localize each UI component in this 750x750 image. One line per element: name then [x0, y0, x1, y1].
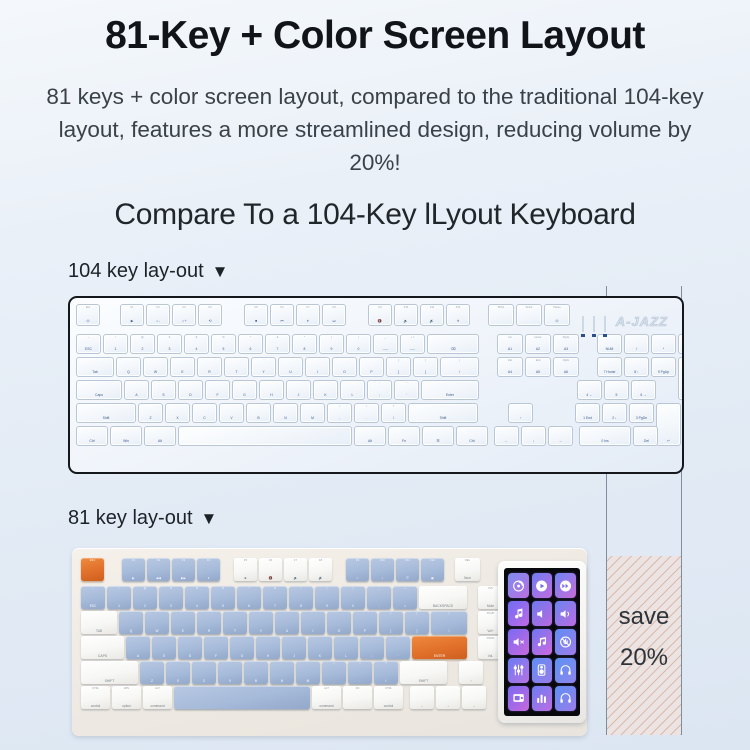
- key-legend-main: 🔉: [397, 319, 415, 324]
- key-104-bottom-row-12[interactable]: . Del: [633, 426, 658, 446]
- key-legend-main: J: [289, 393, 308, 398]
- key-81-bottom-row-4[interactable]: ALTcommand: [312, 686, 341, 709]
- key-legend-main: ↵: [659, 439, 678, 444]
- key-legend-main: ;: [362, 654, 383, 658]
- key-104-home-row-10[interactable]: :;: [367, 380, 392, 400]
- key-104-function-row-9[interactable]: F9🔇: [368, 304, 392, 326]
- key-104-qwerty-row-10[interactable]: P: [359, 357, 384, 377]
- key-81-number-row-11[interactable]: _-: [367, 586, 391, 609]
- key-104-shift-row-13[interactable]: 1 End: [575, 403, 600, 423]
- key-legend-top: Home: [528, 336, 548, 340]
- key-81-function-row-9[interactable]: F9⌂: [346, 558, 369, 581]
- key-legend-top: :: [370, 382, 389, 386]
- key-104-qwerty-row-7[interactable]: U: [278, 357, 303, 377]
- key-legend-top: ): [349, 336, 368, 340]
- key-81-number-row-5[interactable]: %5: [211, 586, 235, 609]
- key-104-function-row-13[interactable]: PrtSc: [488, 304, 514, 326]
- key-104-number-row-1[interactable]: !1: [103, 334, 128, 354]
- key-legend-main: ': [397, 393, 416, 398]
- key-104-number-row-5[interactable]: %5: [211, 334, 236, 354]
- key-legend-main: /: [627, 347, 646, 352]
- key-104-number-row-9[interactable]: (9: [319, 334, 344, 354]
- key-104-function-row-1[interactable]: F1▶: [120, 304, 144, 326]
- key-legend-top: ^: [241, 336, 260, 340]
- key-legend-main: 2: [133, 347, 152, 352]
- key-81-shift-row-2[interactable]: X: [166, 661, 190, 684]
- key-104-number-row-7[interactable]: &7: [265, 334, 290, 354]
- key-legend-main: 6: [239, 604, 260, 608]
- key-104-shift-row-15[interactable]: 3 PgDn: [629, 403, 654, 423]
- key-104-qwerty-row-16[interactable]: PgDnA6: [553, 357, 579, 377]
- key-legend-top: F3: [174, 559, 194, 563]
- key-104-number-row-11[interactable]: _ -⸺: [373, 334, 398, 354]
- screen-app-volume-down-icon[interactable]: [532, 601, 553, 626]
- key-81-bottom-row-7[interactable]: ←: [410, 686, 434, 709]
- key-legend-top: F1: [123, 306, 141, 310]
- key-104-qwerty-row-19[interactable]: 9 PgUp: [651, 357, 676, 377]
- key-legend-top: DEL: [457, 559, 479, 563]
- key-legend-main: Y: [254, 370, 273, 375]
- key-81-home-row-3[interactable]: D: [178, 636, 202, 659]
- key-81-home-row-0[interactable]: CAPS: [81, 636, 124, 659]
- key-104-shift-row-5[interactable]: B: [246, 403, 271, 423]
- key-81-home-row-9[interactable]: L: [334, 636, 358, 659]
- key-legend-top: :: [362, 637, 383, 641]
- key-104-number-row-6[interactable]: ^6: [238, 334, 263, 354]
- key-81-bottom-row-6[interactable]: CTRLcontrol: [374, 686, 403, 709]
- key-104-shift-row-9[interactable]: >.: [354, 403, 379, 423]
- key-104-qwerty-row-17[interactable]: 7 Home: [597, 357, 622, 377]
- key-legend-top: !: [109, 587, 130, 591]
- key-81-shift-row-9[interactable]: >.: [348, 661, 372, 684]
- key-104-qwerty-row-0[interactable]: Tab: [76, 357, 114, 377]
- key-81-number-row-13[interactable]: BACKSPACE: [419, 586, 467, 609]
- key-104-qwerty-row-18[interactable]: 8 ↑: [624, 357, 649, 377]
- key-81-bottom-row-3[interactable]: [174, 686, 310, 709]
- key-81-function-row-7[interactable]: F7🔉: [284, 558, 307, 581]
- key-legend-top: CTRL: [376, 687, 402, 691]
- key-81-qwerty-row-12[interactable]: }]: [405, 611, 429, 634]
- key-legend-main: Fn: [391, 439, 417, 444]
- key-81-number-row-6[interactable]: ^6: [237, 586, 261, 609]
- key-104-function-row-4[interactable]: F4⟲: [198, 304, 222, 326]
- key-81-qwerty-row-4[interactable]: R: [197, 611, 221, 634]
- key-104-qwerty-row-13[interactable]: |\: [440, 357, 479, 377]
- key-104-function-row-2[interactable]: F2☼-: [146, 304, 170, 326]
- key-legend-top: _: [369, 587, 390, 591]
- key-81-function-row-0[interactable]: ESC: [81, 558, 104, 581]
- key-81-shift-row-10[interactable]: ?/: [374, 661, 398, 684]
- key-104-home-row-5[interactable]: G: [232, 380, 257, 400]
- key-legend-main: SHIFT: [402, 679, 446, 683]
- key-legend-main: C: [195, 416, 214, 421]
- key-81-qwerty-row-2[interactable]: W: [145, 611, 169, 634]
- key-104-function-row-8[interactable]: F8⏭: [322, 304, 346, 326]
- key-legend-main: ↑: [511, 416, 530, 421]
- key-legend-main: F: [208, 393, 227, 398]
- key-81-shift-row-0[interactable]: SHIFT: [81, 661, 138, 684]
- compare-heading: Compare To a 104-Key lLyout Keyboard: [0, 198, 750, 232]
- key-104-number-row-10[interactable]: )0: [346, 334, 371, 354]
- key-81-qwerty-row-6[interactable]: Y: [249, 611, 273, 634]
- key-104-home-row-7[interactable]: J: [286, 380, 311, 400]
- key-81-number-row-3[interactable]: #3: [159, 586, 183, 609]
- key-81-home-row-11[interactable]: "': [386, 636, 410, 659]
- key-81-home-row-12[interactable]: ENTER: [412, 636, 467, 659]
- key-81-home-row-1[interactable]: A: [126, 636, 150, 659]
- key-104-shift-row-0[interactable]: Shift: [76, 403, 136, 423]
- key-legend-main: W: [147, 629, 168, 633]
- key-81-qwerty-row-11[interactable]: {[: [379, 611, 403, 634]
- key-legend-main: 0: [343, 604, 364, 608]
- key-legend-top: F5: [236, 559, 256, 563]
- key-104-shift-row-1[interactable]: Z: [138, 403, 163, 423]
- key-legend-main: W: [146, 370, 165, 375]
- key-legend-main: 3: [161, 604, 182, 608]
- key-104-home-row-13[interactable]: 4 ←: [577, 380, 602, 400]
- key-104-bottom-row-4[interactable]: Alt: [354, 426, 386, 446]
- key-104-home-row-1[interactable]: A: [124, 380, 149, 400]
- key-legend-top: WIN: [114, 687, 140, 691]
- key-81-bottom-row-2[interactable]: ALTcommand: [143, 686, 172, 709]
- screen-app-music-notes-icon[interactable]: [532, 629, 553, 654]
- key-81-number-row-12[interactable]: +=: [393, 586, 417, 609]
- key-81-bottom-row-8[interactable]: ↓: [436, 686, 460, 709]
- screen-app-headset-icon[interactable]: [555, 686, 576, 711]
- key-legend-main: 9: [317, 604, 338, 608]
- key-legend-main: 7 Home: [600, 370, 619, 375]
- key-104-qwerty-row-4[interactable]: R: [197, 357, 222, 377]
- key-104-number-row-0[interactable]: ~ESC: [76, 334, 101, 354]
- key-legend-main: 5: [607, 393, 626, 398]
- key-legend-main: ⏻: [547, 319, 567, 324]
- key-104-shift-row-10[interactable]: ?/: [381, 403, 406, 423]
- key-104-bottom-row-0[interactable]: Ctrl: [76, 426, 108, 446]
- key-104-shift-row-6[interactable]: N: [273, 403, 298, 423]
- key-104-qwerty-row-9[interactable]: O: [332, 357, 357, 377]
- key-legend-top: $: [187, 587, 208, 591]
- key-legend-main: Z: [142, 679, 163, 683]
- key-81-number-row-10[interactable]: )0: [341, 586, 365, 609]
- key-81-qwerty-row-13[interactable]: |\: [431, 611, 467, 634]
- key-104-number-row-8[interactable]: *8: [292, 334, 317, 354]
- key-81-function-row-5[interactable]: F5■: [234, 558, 257, 581]
- key-legend-main: 🔇: [371, 319, 389, 324]
- key-legend-main: A: [128, 654, 149, 658]
- key-104-function-row-12[interactable]: F12☀: [446, 304, 470, 326]
- key-104-qwerty-row-20[interactable]: +: [678, 357, 684, 400]
- key-legend-top: F2: [149, 559, 169, 563]
- key-81-shift-row-3[interactable]: C: [192, 661, 216, 684]
- key-104-bottom-row-10[interactable]: →: [548, 426, 573, 446]
- screen-app-headphones-icon[interactable]: [555, 658, 576, 683]
- key-legend-main: .: [357, 416, 376, 421]
- key-81-number-row-4[interactable]: $4: [185, 586, 209, 609]
- key-legend-top: Pause: [547, 306, 567, 310]
- key-104-qwerty-row-3[interactable]: E: [170, 357, 195, 377]
- key-legend-main: K: [316, 393, 335, 398]
- key-104-shift-row-2[interactable]: X: [165, 403, 190, 423]
- key-81-home-row-2[interactable]: S: [152, 636, 176, 659]
- key-81-qwerty-row-10[interactable]: P: [353, 611, 377, 634]
- key-104-function-row-15[interactable]: Pause⏻: [544, 304, 570, 326]
- key-104-bottom-row-9[interactable]: ↓: [521, 426, 546, 446]
- key-legend-top: *: [291, 587, 312, 591]
- key-legend-main: 4 ←: [580, 393, 599, 398]
- screen-app-play-icon[interactable]: [532, 573, 553, 598]
- key-81-shift-row-12[interactable]: ↑: [459, 661, 483, 684]
- key-104-function-row-10[interactable]: F10🔉: [394, 304, 418, 326]
- key-legend-main: Shift: [411, 416, 475, 421]
- key-legend-main: I: [308, 370, 327, 375]
- key-104-qwerty-row-15[interactable]: EndA5: [525, 357, 551, 377]
- key-104-bottom-row-2[interactable]: Alt: [144, 426, 176, 446]
- key-81-shift-row-1[interactable]: Z: [140, 661, 164, 684]
- key-104-home-row-11[interactable]: "': [394, 380, 419, 400]
- key-104-shift-row-4[interactable]: V: [219, 403, 244, 423]
- key-104-number-row-12[interactable]: + =⸺: [400, 334, 425, 354]
- key-104-home-row-0[interactable]: Caps: [76, 380, 122, 400]
- key-legend-main: Z: [141, 416, 160, 421]
- key-81-number-row-2[interactable]: @2: [133, 586, 157, 609]
- key-legend-main: ]: [416, 370, 435, 375]
- screen-app-music-note-icon[interactable]: [508, 601, 529, 626]
- key-legend-main: Y: [251, 629, 272, 633]
- key-104-function-row-14[interactable]: ScrLk: [516, 304, 542, 326]
- key-legend-main: Num: [457, 576, 479, 580]
- key-104-qwerty-row-1[interactable]: Q: [116, 357, 141, 377]
- key-104-number-row-15[interactable]: HomeA2: [525, 334, 551, 354]
- key-81-qwerty-row-9[interactable]: O: [327, 611, 351, 634]
- key-81-function-row-2[interactable]: F2◀◀: [147, 558, 170, 581]
- indicator-led-scrolllock: [604, 316, 606, 332]
- key-104-shift-row-16[interactable]: ↵: [656, 403, 681, 446]
- screen-app-mic-off-icon[interactable]: [555, 629, 576, 654]
- key-legend-main: \: [443, 370, 476, 375]
- key-81-shift-row-6[interactable]: N: [270, 661, 294, 684]
- key-81-number-row-7[interactable]: &7: [263, 586, 287, 609]
- key-81-qwerty-row-5[interactable]: T: [223, 611, 247, 634]
- key-legend-main: 2: [135, 604, 156, 608]
- key-81-home-row-7[interactable]: J: [282, 636, 306, 659]
- key-104-bottom-row-7[interactable]: Ctrl: [456, 426, 488, 446]
- key-legend-top: ^: [239, 587, 260, 591]
- key-legend-top: $: [187, 336, 206, 340]
- key-104-bottom-row-1[interactable]: Win: [110, 426, 142, 446]
- key-legend-main: 1: [106, 347, 125, 352]
- key-81-qwerty-row-7[interactable]: U: [275, 611, 299, 634]
- key-81-qwerty-row-0[interactable]: TAB: [81, 611, 117, 634]
- screen-app-fast-forward-icon[interactable]: [555, 573, 576, 598]
- key-legend-top: Ins: [500, 336, 520, 340]
- key-legend-main: ⏻: [79, 319, 97, 324]
- key-104-number-row-17[interactable]: NUM: [597, 334, 622, 354]
- key-104-number-row-2[interactable]: @2: [130, 334, 155, 354]
- screen-app-volume-mute-icon[interactable]: [508, 629, 529, 654]
- key-legend-main: 🔇: [261, 576, 281, 580]
- key-legend-main: ⏮: [273, 319, 291, 324]
- key-81-function-row-12[interactable]: F12▣: [421, 558, 444, 581]
- key-104-shift-row-11[interactable]: Shift: [408, 403, 478, 423]
- key-legend-top: ~: [79, 336, 98, 340]
- volume-mute-icon: [508, 629, 529, 654]
- key-104-function-row-0[interactable]: Esc⏻: [76, 304, 100, 326]
- key-81-home-row-5[interactable]: G: [230, 636, 254, 659]
- key-81-shift-row-11[interactable]: SHIFT: [400, 661, 447, 684]
- key-81-function-row-6[interactable]: F6🔇: [259, 558, 282, 581]
- key-81-function-row-10[interactable]: F10⌕: [371, 558, 394, 581]
- key-legend-main: ■: [247, 319, 265, 324]
- key-legend-main: H: [258, 654, 279, 658]
- key-104-qwerty-row-11[interactable]: {[: [386, 357, 411, 377]
- key-104-home-row-3[interactable]: D: [178, 380, 203, 400]
- key-104-bottom-row-6[interactable]: ☰: [422, 426, 454, 446]
- key-104-function-row-6[interactable]: F6⏮: [270, 304, 294, 326]
- key-81-home-row-8[interactable]: K: [308, 636, 332, 659]
- key-legend-main: R: [200, 370, 219, 375]
- key-81-number-row-1[interactable]: !1: [107, 586, 131, 609]
- key-104-bottom-row-11[interactable]: 0 Ins: [579, 426, 631, 446]
- key-81-shift-row-8[interactable]: <,: [322, 661, 346, 684]
- key-legend-main: Ctrl: [79, 439, 105, 444]
- key-legend-main: ☼+: [175, 319, 193, 324]
- key-104-number-row-14[interactable]: InsA1: [497, 334, 523, 354]
- key-104-function-row-3[interactable]: F3☼+: [172, 304, 196, 326]
- key-81-shift-row-7[interactable]: M: [296, 661, 320, 684]
- key-104-qwerty-row-2[interactable]: W: [143, 357, 168, 377]
- screen-app-disc-icon[interactable]: [508, 573, 529, 598]
- key-81-qwerty-row-1[interactable]: Q: [119, 611, 143, 634]
- key-81-number-row-8[interactable]: *8: [289, 586, 313, 609]
- key-legend-top: F12: [423, 559, 443, 563]
- key-81-number-row-0[interactable]: ~ESC: [81, 586, 105, 609]
- savings-callout: save 20%: [607, 596, 681, 678]
- key-legend-main: Enter: [424, 393, 476, 398]
- key-81-bottom-row-9[interactable]: →: [462, 686, 486, 709]
- label-81-key-layout: 81 key lay-out▼: [68, 507, 217, 530]
- key-legend-main: CAPS: [83, 654, 123, 658]
- key-legend-main: ☰: [425, 439, 451, 444]
- key-104-number-row-18[interactable]: /: [624, 334, 649, 354]
- key-legend-main: ▶▶: [174, 576, 194, 580]
- key-81-shift-row-4[interactable]: V: [218, 661, 242, 684]
- key-104-qwerty-row-12[interactable]: }]: [413, 357, 438, 377]
- keyboard-104-key: Esc⏻F1▶F2☼-F3☼+F4⟲F5■F6⏮F7⏵F8⏭F9🔇F10🔉F11…: [68, 296, 684, 474]
- key-104-bottom-row-5[interactable]: Fn: [388, 426, 420, 446]
- screen-app-speaker-icon[interactable]: [532, 658, 553, 683]
- key-104-shift-row-7[interactable]: M: [300, 403, 325, 423]
- key-104-shift-row-3[interactable]: C: [192, 403, 217, 423]
- key-104-number-row-20[interactable]: −: [678, 334, 684, 354]
- key-104-home-row-9[interactable]: L: [340, 380, 365, 400]
- key-81-home-row-4[interactable]: F: [204, 636, 228, 659]
- key-81-shift-row-5[interactable]: B: [244, 661, 268, 684]
- key-legend-top: %: [214, 336, 233, 340]
- key-104-bottom-row-3[interactable]: [178, 426, 352, 446]
- key-104-shift-row-12[interactable]: ↑: [508, 403, 533, 423]
- key-legend-main: 1 End: [578, 416, 597, 421]
- key-legend-top: >: [357, 405, 376, 409]
- key-104-qwerty-row-14[interactable]: DelA4: [497, 357, 523, 377]
- key-104-qwerty-row-8[interactable]: I: [305, 357, 330, 377]
- volume-down-icon: [532, 601, 553, 626]
- key-legend-top: PrtSc: [491, 306, 511, 310]
- key-104-number-row-19[interactable]: *: [651, 334, 676, 354]
- media-file-icon: [508, 686, 529, 711]
- music-note-icon: [508, 601, 529, 626]
- screen-app-equalizer-icon[interactable]: [508, 658, 529, 683]
- brand-logo: A-JAZZ: [616, 314, 668, 329]
- key-legend-main: 4: [187, 347, 206, 352]
- page-subtitle: 81 keys + color screen layout, compared …: [40, 80, 710, 179]
- key-104-bottom-row-8[interactable]: ←: [494, 426, 519, 446]
- key-104-qwerty-row-6[interactable]: Y: [251, 357, 276, 377]
- key-81-function-row-1[interactable]: F1▶: [122, 558, 145, 581]
- key-legend-top: F2: [149, 306, 167, 310]
- key-81-home-row-6[interactable]: H: [256, 636, 280, 659]
- key-104-function-row-7[interactable]: F7⏵: [296, 304, 320, 326]
- key-104-home-row-12[interactable]: Enter: [421, 380, 479, 400]
- key-104-function-row-11[interactable]: F11🔊: [420, 304, 444, 326]
- key-104-home-row-8[interactable]: K: [313, 380, 338, 400]
- key-104-home-row-4[interactable]: F: [205, 380, 230, 400]
- screen-app-chart-bars-icon[interactable]: [532, 686, 553, 711]
- screen-app-volume-up-icon[interactable]: [555, 601, 576, 626]
- key-legend-main: 5: [213, 604, 234, 608]
- key-104-number-row-4[interactable]: $4: [184, 334, 209, 354]
- key-104-home-row-15[interactable]: 6 →: [631, 380, 656, 400]
- key-81-function-row-8[interactable]: F8🔊: [309, 558, 332, 581]
- key-81-function-row-11[interactable]: F11☰: [396, 558, 419, 581]
- key-81-bottom-row-1[interactable]: WINoption: [112, 686, 141, 709]
- key-legend-top: (: [322, 336, 341, 340]
- key-81-qwerty-row-8[interactable]: I: [301, 611, 325, 634]
- key-104-number-row-13[interactable]: ⌫: [427, 334, 479, 354]
- key-legend-main: Tab: [79, 370, 111, 375]
- key-legend-top: ?: [376, 662, 397, 666]
- key-104-qwerty-row-5[interactable]: T: [224, 357, 249, 377]
- key-81-function-row-3[interactable]: F3▶▶: [172, 558, 195, 581]
- screen-app-media-file-icon[interactable]: [508, 686, 529, 711]
- key-81-qwerty-row-3[interactable]: E: [171, 611, 195, 634]
- key-legend-top: F7: [286, 559, 306, 563]
- key-legend-main: F: [206, 654, 227, 658]
- key-legend-main: K: [310, 654, 331, 658]
- key-legend-main: BACKSPACE: [421, 604, 466, 608]
- key-104-number-row-16[interactable]: PgUpA3: [553, 334, 579, 354]
- key-legend-main: TAB: [83, 629, 116, 633]
- key-104-home-row-6[interactable]: H: [259, 380, 284, 400]
- key-81-number-row-9[interactable]: (9: [315, 586, 339, 609]
- key-81-bottom-row-5[interactable]: FN: [343, 686, 372, 709]
- key-legend-main: T: [227, 370, 246, 375]
- key-legend-top: F7: [299, 306, 317, 310]
- key-81-home-row-10[interactable]: :;: [360, 636, 384, 659]
- key-104-home-row-14[interactable]: 5: [604, 380, 629, 400]
- key-81-bottom-row-0[interactable]: CTRLcontrol: [81, 686, 110, 709]
- key-104-shift-row-8[interactable]: <,: [327, 403, 352, 423]
- key-81-function-row-4[interactable]: F4⏸: [197, 558, 220, 581]
- key-legend-main: [: [381, 629, 402, 633]
- key-legend-main: ▶: [124, 576, 144, 580]
- key-104-function-row-5[interactable]: F5■: [244, 304, 268, 326]
- key-81-function-row-13[interactable]: DELNum: [455, 558, 480, 581]
- key-legend-main: E: [173, 370, 192, 375]
- key-104-shift-row-14[interactable]: 2 ↓: [602, 403, 627, 423]
- key-104-number-row-3[interactable]: #3: [157, 334, 182, 354]
- key-legend-top: +: [395, 587, 416, 591]
- key-104-home-row-2[interactable]: S: [151, 380, 176, 400]
